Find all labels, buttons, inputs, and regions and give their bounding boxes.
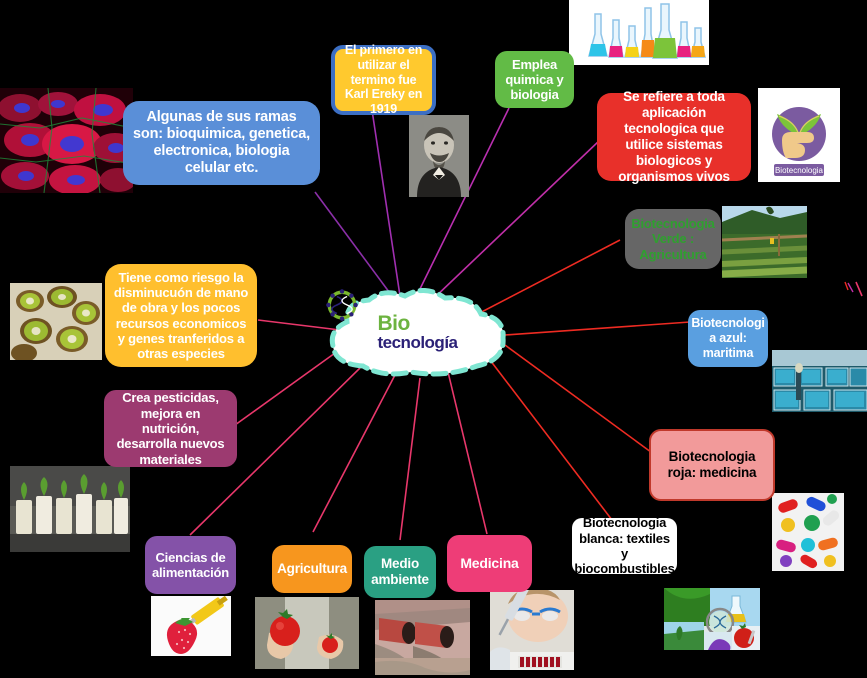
logo-text-tecnologia: tecnología <box>377 335 457 352</box>
image-biotech-collage <box>664 588 760 650</box>
central-node-biotecnologia[interactable]: Bio tecnología <box>325 288 510 378</box>
node-ciencias-alimentacion[interactable]: Ciencias de alimentación <box>145 536 236 594</box>
node-biotecnologia-azul[interactable]: Biotecnologi a azul: maritima <box>688 310 768 367</box>
node-karl-ereky[interactable]: El primero en utilizar el termino fue Ka… <box>331 45 436 115</box>
node-ramas[interactable]: Algunas de sus ramas son: bioquimica, ge… <box>123 101 320 185</box>
image-hands-tomatoes <box>255 597 359 669</box>
svg-text:Biotecnologia: Biotecnologia <box>775 166 824 175</box>
node-biotecnologia-verde[interactable]: Biotecnologia Verde : Agricultura <box>625 209 721 269</box>
logo-text-bio: Bio <box>377 314 457 335</box>
node-biotecnologia-roja[interactable]: Biotecnologia roja: medicina <box>649 429 775 501</box>
image-kiwi-fruit <box>10 283 102 360</box>
image-aquaculture-tanks <box>772 350 867 412</box>
central-node-label: Bio tecnología <box>325 288 510 378</box>
node-riesgo[interactable]: Tiene como riesgo la disminucuón de mano… <box>105 264 257 367</box>
node-medicina[interactable]: Medicina <box>447 535 532 592</box>
image-strawberry-syringe <box>151 596 231 656</box>
mindmap-canvas: Biotecnologia <box>0 0 867 678</box>
node-crea[interactable]: Crea pesticidas, mejora en nutrición, de… <box>104 390 237 467</box>
image-laboratory-flasks <box>569 0 709 65</box>
node-definicion[interactable]: Se refiere a toda aplicación tecnologica… <box>597 93 751 181</box>
image-terraced-crops <box>722 206 807 278</box>
image-assorted-pills <box>772 493 844 571</box>
image-tissue-culture-sprouts <box>10 466 130 552</box>
node-medio-ambiente[interactable]: Medio ambiente <box>364 546 436 598</box>
image-scientist-pipette <box>490 590 574 670</box>
image-fluorescent-cells <box>0 88 133 193</box>
node-emplea[interactable]: Emplea quimica y biologia <box>495 51 574 108</box>
image-waste-pipes <box>375 600 470 675</box>
node-biotecnologia-blanca[interactable]: Biotecnologia blanca: textiles y biocomb… <box>572 518 677 574</box>
image-karl-ereky-portrait <box>409 115 469 197</box>
image-biotecnologia-logo: Biotecnologia <box>758 88 840 182</box>
node-agricultura[interactable]: Agricultura <box>272 545 352 593</box>
dna-gear-logo-icon <box>325 288 359 322</box>
